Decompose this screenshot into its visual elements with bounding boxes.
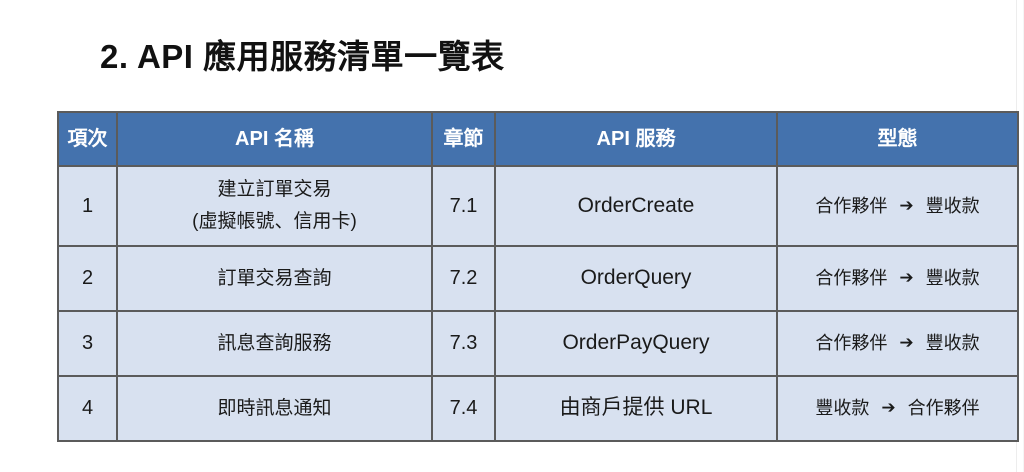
- cell-section: 7.4: [432, 376, 495, 441]
- flow-source: 合作夥伴: [815, 333, 887, 353]
- table-row: 1 建立訂單交易 (虛擬帳號、信用卡) 7.1 OrderCreate 合作夥伴…: [58, 166, 1018, 246]
- cell-no: 3: [58, 311, 117, 376]
- section-number: 7.3: [450, 332, 478, 354]
- section-number: 7.4: [450, 397, 478, 419]
- flow-direction: 合作夥伴 ➔ 豐收款: [815, 333, 979, 353]
- right-arrow-icon: ➔: [892, 263, 920, 293]
- column-header-name: API 名稱: [117, 112, 432, 166]
- right-arrow-icon: ➔: [874, 393, 902, 423]
- column-header-service: API 服務: [495, 112, 777, 166]
- api-name-stack: 建立訂單交易 (虛擬帳號、信用卡): [118, 174, 431, 238]
- api-name-line1: 建立訂單交易: [217, 174, 331, 206]
- flow-source: 合作夥伴: [815, 268, 887, 288]
- api-service-name: OrderPayQuery: [562, 331, 709, 354]
- api-service-name: OrderQuery: [581, 266, 692, 289]
- column-header-section: 章節: [432, 112, 495, 166]
- api-name-line1: 即時訊息通知: [217, 398, 331, 419]
- api-name-line1: 訂單交易查詢: [217, 268, 331, 289]
- cell-no: 1: [58, 166, 117, 246]
- cell-type: 豐收款 ➔ 合作夥伴: [777, 376, 1018, 441]
- flow-target: 豐收款: [926, 333, 980, 353]
- flow-source: 豐收款: [815, 398, 869, 418]
- section-number: 7.1: [450, 195, 478, 217]
- flow-direction: 合作夥伴 ➔ 豐收款: [815, 196, 979, 216]
- right-arrow-icon: ➔: [892, 191, 920, 221]
- section-number: 7.2: [450, 267, 478, 289]
- cell-service: OrderCreate: [495, 166, 777, 246]
- api-name-line1: 訊息查詢服務: [217, 333, 331, 354]
- table-header: 項次 API 名稱 章節 API 服務 型態: [58, 112, 1018, 166]
- flow-target: 豐收款: [926, 196, 980, 216]
- flow-target: 合作夥伴: [908, 398, 980, 418]
- column-header-type: 型態: [777, 112, 1018, 166]
- table-row: 2 訂單交易查詢 7.2 OrderQuery 合作夥伴 ➔ 豐收款: [58, 246, 1018, 311]
- cell-name: 即時訊息通知: [117, 376, 432, 441]
- cell-no: 2: [58, 246, 117, 311]
- cell-service: OrderQuery: [495, 246, 777, 311]
- flow-direction: 豐收款 ➔ 合作夥伴: [815, 398, 979, 418]
- row-number: 2: [82, 267, 93, 289]
- api-service-name: OrderCreate: [578, 194, 695, 217]
- api-service-table: 項次 API 名稱 章節 API 服務 型態 1 建立訂單交易 (虛擬帳號、信用…: [57, 111, 1019, 442]
- cell-type: 合作夥伴 ➔ 豐收款: [777, 246, 1018, 311]
- flow-direction: 合作夥伴 ➔ 豐收款: [815, 268, 979, 288]
- cell-no: 4: [58, 376, 117, 441]
- cell-type: 合作夥伴 ➔ 豐收款: [777, 166, 1018, 246]
- cell-service: 由商戶提供 URL: [495, 376, 777, 441]
- flow-source: 合作夥伴: [815, 196, 887, 216]
- column-header-no: 項次: [58, 112, 117, 166]
- row-number: 4: [82, 397, 93, 419]
- cell-section: 7.1: [432, 166, 495, 246]
- cell-service: OrderPayQuery: [495, 311, 777, 376]
- cell-name: 訂單交易查詢: [117, 246, 432, 311]
- page-title: 2. API 應用服務清單一覽表: [100, 35, 505, 79]
- api-service-name: 由商戶提供 URL: [560, 396, 713, 419]
- cell-name: 訊息查詢服務: [117, 311, 432, 376]
- table-body: 1 建立訂單交易 (虛擬帳號、信用卡) 7.1 OrderCreate 合作夥伴…: [58, 166, 1018, 441]
- api-name-line2: (虛擬帳號、信用卡): [192, 206, 357, 238]
- row-number: 1: [82, 195, 93, 217]
- table-row: 3 訊息查詢服務 7.3 OrderPayQuery 合作夥伴 ➔ 豐收款: [58, 311, 1018, 376]
- flow-target: 豐收款: [926, 268, 980, 288]
- cell-name: 建立訂單交易 (虛擬帳號、信用卡): [117, 166, 432, 246]
- cell-type: 合作夥伴 ➔ 豐收款: [777, 311, 1018, 376]
- table-row: 4 即時訊息通知 7.4 由商戶提供 URL 豐收款 ➔ 合作夥伴: [58, 376, 1018, 441]
- cell-section: 7.3: [432, 311, 495, 376]
- table-header-row: 項次 API 名稱 章節 API 服務 型態: [58, 112, 1018, 166]
- cell-section: 7.2: [432, 246, 495, 311]
- right-arrow-icon: ➔: [892, 328, 920, 358]
- row-number: 3: [82, 332, 93, 354]
